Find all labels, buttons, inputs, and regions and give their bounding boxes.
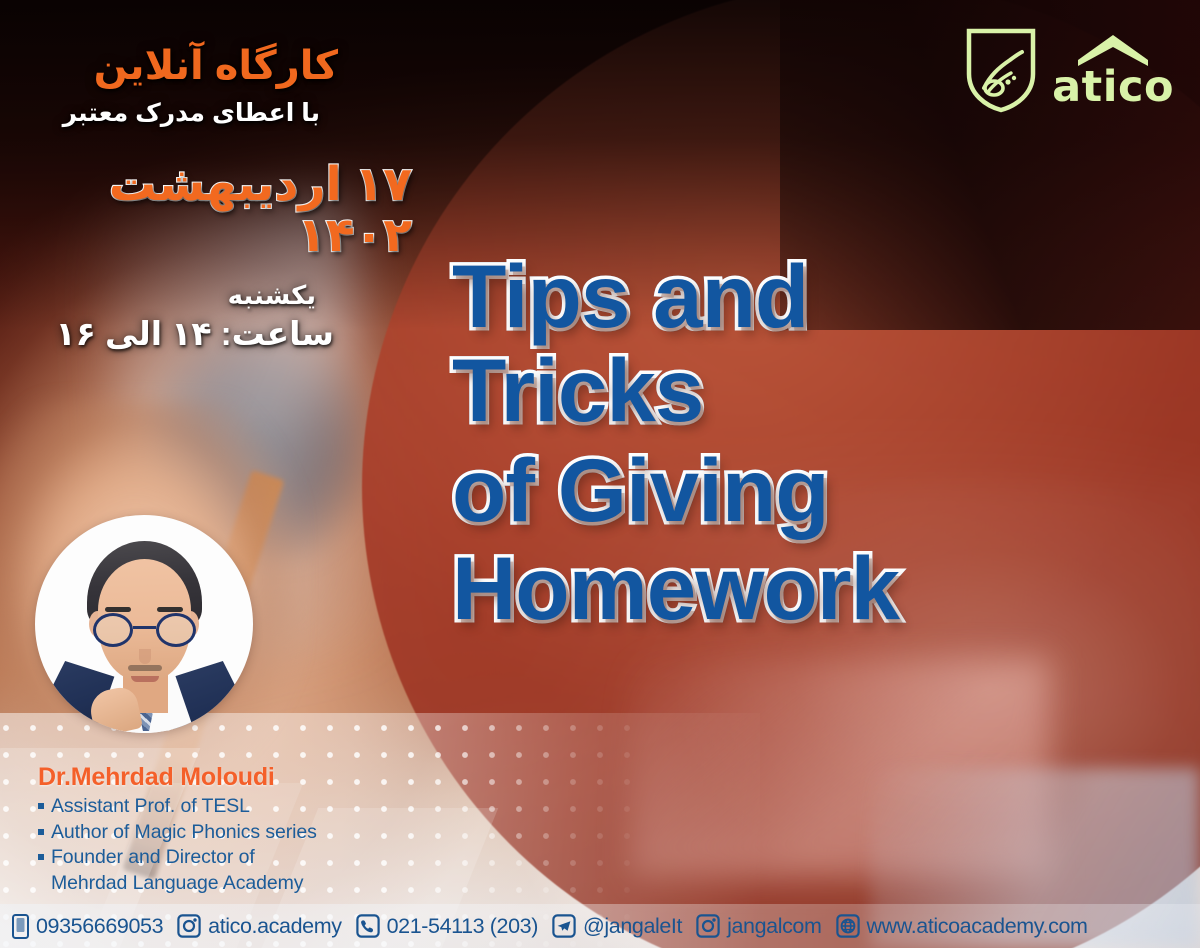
headline-line-3: of Giving [452, 446, 1200, 534]
telegram-icon [552, 914, 576, 938]
contact-bar: 09356669053 atico.academy 021-54113 (203… [0, 904, 1200, 948]
bullet-icon [38, 829, 44, 835]
contact-instagram-atico[interactable]: atico.academy [177, 914, 341, 939]
bullet-icon [38, 803, 44, 809]
credential-item: Founder and Director of [38, 845, 317, 871]
credential-text: Mehrdad Language Academy [51, 871, 303, 897]
credential-item-continued: Mehrdad Language Academy [38, 871, 317, 897]
event-date-fa: ۱۷ اردیبهشت ۱۴۰۲ [0, 158, 416, 261]
portrait-brow-left [105, 607, 131, 612]
workshop-title-fa: کارگاه آنلاین [0, 44, 416, 89]
atico-wordmark: atico [1052, 67, 1174, 108]
portrait-glasses [93, 613, 196, 647]
portrait-mouth [131, 676, 159, 682]
speaker-name: Dr.Mehrdad Moloudi [38, 762, 317, 792]
credential-text: Founder and Director of [51, 845, 255, 871]
contact-website[interactable]: www.aticoacademy.com [836, 914, 1088, 939]
event-time-fa: ساعت: ۱۴ الی ۱۶ [0, 315, 416, 353]
speaker-credentials-list: Assistant Prof. of TESL Author of Magic … [38, 794, 317, 897]
contact-instagram-atico-label: atico.academy [208, 914, 341, 939]
certificate-note-fa: با اعطای مدرک معتبر [0, 98, 416, 128]
instagram-icon [177, 914, 201, 938]
headline-line-4: Homework [452, 544, 1200, 632]
portrait-moustache [128, 665, 162, 671]
headline-line-1: Tips and [452, 252, 1200, 340]
globe-icon [836, 914, 860, 938]
persian-info-block: کارگاه آنلاین با اعطای مدرک معتبر ۱۷ ارد… [0, 44, 432, 353]
portrait-nose [139, 649, 151, 664]
contact-telephone[interactable]: 021-54113 (203) [356, 914, 538, 939]
telephone-icon [356, 914, 380, 938]
contact-telegram-label: @jangaleIt [583, 914, 682, 939]
contact-website-label: www.aticoacademy.com [867, 914, 1088, 939]
contact-instagram-jangal-label: jangalcom [727, 914, 821, 939]
atico-logo[interactable]: atico [1052, 33, 1174, 108]
credential-item: Assistant Prof. of TESL [38, 794, 317, 820]
contact-telephone-label: 021-54113 (203) [387, 914, 538, 939]
bullet-icon [38, 854, 44, 860]
speaker-info: Dr.Mehrdad Moloudi Assistant Prof. of TE… [38, 762, 317, 897]
instagram-icon [696, 914, 720, 938]
contact-instagram-jangal[interactable]: jangalcom [696, 914, 821, 939]
logo-group: atico [964, 26, 1174, 114]
avatar [35, 515, 253, 733]
glasses-lens-right [156, 613, 196, 647]
glasses-bridge [133, 626, 156, 629]
credential-text: Author of Magic Phonics series [51, 820, 317, 846]
headline-line-2: Tricks [452, 346, 1200, 434]
glasses-lens-left [93, 613, 133, 647]
headline-block: Tips and Tricks of Giving Homework [452, 252, 1200, 632]
contact-mobile[interactable]: 09356669053 [12, 914, 163, 939]
portrait-brow-right [157, 607, 183, 612]
mobile-phone-icon [12, 914, 29, 939]
credential-item: Author of Magic Phonics series [38, 820, 317, 846]
contact-mobile-label: 09356669053 [36, 914, 163, 939]
credential-text: Assistant Prof. of TESL [51, 794, 250, 820]
event-weekday-fa: یکشنبه [0, 281, 416, 311]
promo-banner: کارگاه آنلاین با اعطای مدرک معتبر ۱۷ ارد… [0, 0, 1200, 948]
speaker-portrait [35, 515, 253, 733]
contact-telegram[interactable]: @jangaleIt [552, 914, 682, 939]
jangal-shield-logo[interactable] [964, 26, 1038, 114]
